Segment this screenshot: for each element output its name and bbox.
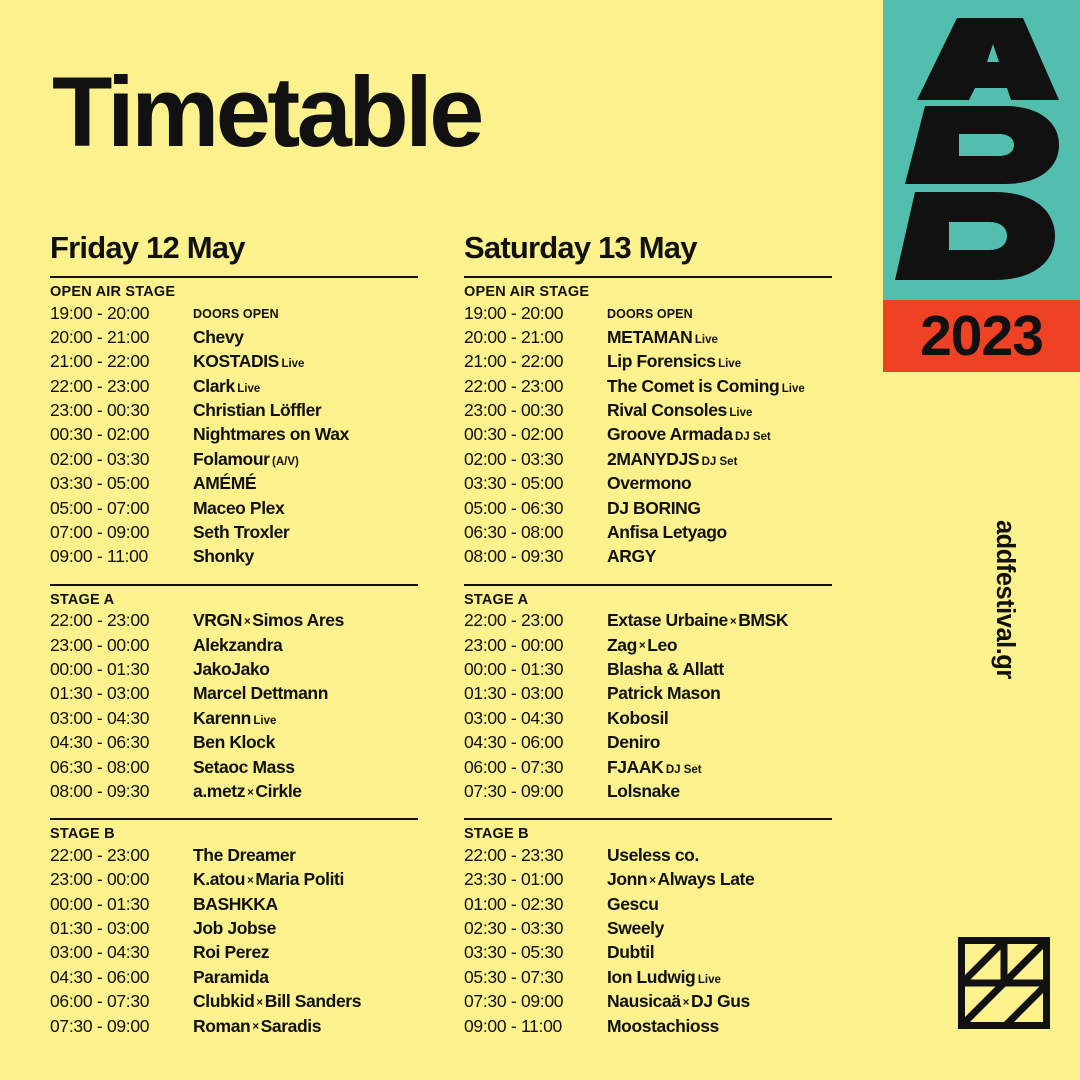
slot-time: 06:00 - 07:30 [50, 991, 193, 1012]
slot-artist: Zag×Leo [607, 635, 677, 656]
artist-name: a.metz [193, 781, 245, 801]
slot-artist: BASHKKA [193, 894, 278, 915]
slot-time: 02:30 - 03:30 [464, 918, 607, 939]
slot-time: 22:00 - 23:00 [50, 610, 193, 631]
slot-time: 03:30 - 05:00 [464, 473, 607, 494]
slot-artist: Setaoc Mass [193, 757, 295, 778]
slot-time: 07:00 - 09:00 [50, 522, 193, 543]
slot-artist: Roman×Saradis [193, 1016, 321, 1037]
artist-name: JakoJako [193, 659, 270, 679]
stage-divider [464, 276, 832, 278]
slot-time: 03:30 - 05:00 [50, 473, 193, 494]
schedule-row: 07:00 - 09:00Seth Troxler [50, 522, 470, 546]
artist-name: Nightmares on Wax [193, 424, 349, 444]
slot-time: 22:00 - 23:00 [464, 376, 607, 397]
slot-time: 06:00 - 07:30 [464, 757, 607, 778]
logo-year-text: 2023 [920, 308, 1043, 365]
slot-time: 09:00 - 11:00 [50, 546, 193, 567]
schedule-row: 22:00 - 23:00The Comet is ComingLive [464, 376, 884, 400]
schedule-row: 00:30 - 02:00Nightmares on Wax [50, 424, 470, 448]
artist-name: Deniro [607, 732, 660, 752]
artist-name: Anfisa Letyago [607, 522, 727, 542]
slot-artist: Ion LudwigLive [607, 967, 721, 988]
add-logotype-icon [883, 0, 1080, 300]
performance-type-label: Live [237, 383, 260, 395]
slot-time: 01:30 - 03:00 [50, 683, 193, 704]
stage-block: STAGE A22:00 - 23:00VRGN×Simos Ares23:00… [50, 584, 470, 806]
schedule-row: 09:00 - 11:00Moostachioss [464, 1016, 884, 1040]
schedule-row: 04:30 - 06:00Paramida [50, 967, 470, 991]
slot-artist: Christian Löffler [193, 400, 321, 421]
artist-name: METAMAN [607, 327, 692, 347]
stage-name: STAGE A [464, 593, 884, 608]
artist-name: DOORS OPEN [193, 307, 279, 321]
artist-name: 2MANYDJS [607, 449, 699, 469]
doors-open-label: DOORS OPEN [607, 307, 693, 321]
artist-name: AMÉMÉ [193, 473, 256, 493]
artist-name: Blasha & Allatt [607, 659, 724, 679]
artist-name: Paramida [193, 967, 269, 987]
artist-name: Shonky [193, 546, 254, 566]
schedule-row: 23:30 - 01:00Jonn×Always Late [464, 869, 884, 893]
schedule-row: 05:00 - 06:30DJ BORING [464, 498, 884, 522]
stage-divider [50, 276, 418, 278]
artist-name: Moostachioss [607, 1016, 719, 1036]
slot-time: 06:30 - 08:00 [50, 757, 193, 778]
slot-time: 23:30 - 01:00 [464, 869, 607, 890]
slot-artist: Alekzandra [193, 635, 282, 656]
slot-time: 20:00 - 21:00 [50, 327, 193, 348]
artist-name-secondary: Saradis [261, 1016, 321, 1036]
slot-artist: Sweely [607, 918, 664, 939]
schedule-row: 07:30 - 09:00Lolsnake [464, 781, 884, 805]
stage-divider [464, 584, 832, 586]
stage-block: STAGE B22:00 - 23:00The Dreamer23:00 - 0… [50, 818, 470, 1040]
schedule-row: 07:30 - 09:00Roman×Saradis [50, 1016, 470, 1040]
slot-artist: Folamour(A/V) [193, 449, 299, 470]
artist-name: Gescu [607, 894, 659, 914]
artist-name: Lip Forensics [607, 351, 716, 371]
slot-artist: Blasha & Allatt [607, 659, 724, 680]
slot-time: 23:00 - 00:00 [50, 635, 193, 656]
performance-type-label: Live [718, 358, 741, 370]
slot-time: 00:00 - 01:30 [464, 659, 607, 680]
slot-time: 04:30 - 06:00 [464, 732, 607, 753]
performance-type-label: (A/V) [272, 456, 299, 468]
schedule-row: 22:00 - 23:00ClarkLive [50, 376, 470, 400]
artist-name: BASHKKA [193, 894, 278, 914]
slot-artist: Deniro [607, 732, 660, 753]
schedule-row: 03:00 - 04:30Roi Perez [50, 942, 470, 966]
schedule-row: 01:30 - 03:00Patrick Mason [464, 683, 884, 707]
slot-artist: Shonky [193, 546, 254, 567]
artist-separator: × [647, 875, 657, 887]
festival-logo-block: 2023 [883, 0, 1080, 372]
schedule-row: 02:30 - 03:30Sweely [464, 918, 884, 942]
slot-time: 19:00 - 20:00 [464, 303, 607, 324]
performance-type-label: DJ Set [735, 431, 771, 443]
schedule-row: 19:00 - 20:00DOORS OPEN [50, 303, 470, 327]
stage-block: STAGE A22:00 - 23:00Extase Urbaine×BMSK2… [464, 584, 884, 806]
performance-type-label: Live [698, 974, 721, 986]
schedule-row: 02:00 - 03:30Folamour(A/V) [50, 449, 470, 473]
schedule-row: 04:30 - 06:30Ben Klock [50, 732, 470, 756]
slot-time: 19:00 - 20:00 [50, 303, 193, 324]
slot-artist: AMÉMÉ [193, 473, 256, 494]
slot-artist: Roi Perez [193, 942, 269, 963]
slot-time: 20:00 - 21:00 [464, 327, 607, 348]
artist-name: Extase Urbaine [607, 610, 728, 630]
slot-artist: JakoJako [193, 659, 270, 680]
schedule-row: 19:00 - 20:00DOORS OPEN [464, 303, 884, 327]
artist-name: Zag [607, 635, 637, 655]
slot-artist: Clubkid×Bill Sanders [193, 991, 361, 1012]
slot-artist: ClarkLive [193, 376, 260, 397]
artist-name: Roman [193, 1016, 250, 1036]
slot-artist: ARGY [607, 546, 656, 567]
artist-name: Nausicaä [607, 991, 681, 1011]
slot-time: 08:00 - 09:30 [464, 546, 607, 567]
artist-name-secondary: Leo [647, 635, 677, 655]
artist-name: K.atou [193, 869, 245, 889]
slot-artist: Moostachioss [607, 1016, 719, 1037]
schedule-row: 09:00 - 11:00Shonky [50, 546, 470, 570]
slot-time: 00:00 - 01:30 [50, 894, 193, 915]
artist-name: Sweely [607, 918, 664, 938]
slot-time: 00:00 - 01:30 [50, 659, 193, 680]
schedule-row: 23:00 - 00:00Alekzandra [50, 635, 470, 659]
slot-artist: Nightmares on Wax [193, 424, 349, 445]
stage-block: STAGE B22:00 - 23:30Useless co.23:30 - 0… [464, 818, 884, 1040]
artist-name: Ion Ludwig [607, 967, 695, 987]
schedule-row: 03:00 - 04:30Kobosil [464, 708, 884, 732]
artist-name-secondary: BMSK [738, 610, 788, 630]
artist-name: The Dreamer [193, 845, 296, 865]
slot-artist: Jonn×Always Late [607, 869, 754, 890]
slot-artist: Paramida [193, 967, 269, 988]
artist-name: Chevy [193, 327, 244, 347]
day-column-saturday: Saturday 13 MayOPEN AIR STAGE19:00 - 20:… [464, 232, 884, 1040]
schedule-row: 06:30 - 08:00Setaoc Mass [50, 757, 470, 781]
slot-time: 03:30 - 05:30 [464, 942, 607, 963]
artist-name: FJAAK [607, 757, 663, 777]
schedule-row: 01:30 - 03:00Marcel Dettmann [50, 683, 470, 707]
slot-artist: Gescu [607, 894, 659, 915]
schedule-row: 00:00 - 01:30BASHKKA [50, 894, 470, 918]
artist-name: KOSTADIS [193, 351, 279, 371]
slot-time: 05:00 - 06:30 [464, 498, 607, 519]
schedule-row: 05:30 - 07:30Ion LudwigLive [464, 967, 884, 991]
slot-time: 06:30 - 08:00 [464, 522, 607, 543]
slot-time: 03:00 - 04:30 [50, 942, 193, 963]
slot-artist: KarennLive [193, 708, 276, 729]
schedule-row: 20:00 - 21:00Chevy [50, 327, 470, 351]
artist-name: Jonn [607, 869, 647, 889]
slot-artist: DJ BORING [607, 498, 701, 519]
brand-monogram-icon [958, 937, 1050, 1029]
schedule-row: 22:00 - 23:00VRGN×Simos Ares [50, 610, 470, 634]
slot-artist: Useless co. [607, 845, 699, 866]
artist-name: Maceo Plex [193, 498, 284, 518]
slot-artist: Lolsnake [607, 781, 680, 802]
slot-time: 22:00 - 23:30 [464, 845, 607, 866]
schedule-row: 08:00 - 09:30a.metz×Cirkle [50, 781, 470, 805]
artist-name: Ben Klock [193, 732, 275, 752]
slot-artist: Patrick Mason [607, 683, 720, 704]
slot-artist: Extase Urbaine×BMSK [607, 610, 788, 631]
slot-time: 03:00 - 04:30 [50, 708, 193, 729]
slot-artist: Job Jobse [193, 918, 276, 939]
slot-time: 22:00 - 23:00 [464, 610, 607, 631]
schedule-row: 06:00 - 07:30Clubkid×Bill Sanders [50, 991, 470, 1015]
stage-divider [50, 818, 418, 820]
stage-block: OPEN AIR STAGE19:00 - 20:00DOORS OPEN20:… [464, 276, 884, 571]
artist-name: Roi Perez [193, 942, 269, 962]
performance-type-label: Live [782, 383, 805, 395]
artist-name-secondary: Always Late [658, 869, 755, 889]
artist-name: Alekzandra [193, 635, 282, 655]
slot-time: 00:30 - 02:00 [464, 424, 607, 445]
artist-name: Overmono [607, 473, 691, 493]
slot-time: 05:30 - 07:30 [464, 967, 607, 988]
schedule-row: 23:00 - 00:30Rival ConsolesLive [464, 400, 884, 424]
slot-artist: Maceo Plex [193, 498, 284, 519]
slot-artist: Overmono [607, 473, 691, 494]
slot-time: 04:30 - 06:30 [50, 732, 193, 753]
artist-name: Christian Löffler [193, 400, 321, 420]
schedule-row: 22:00 - 23:00The Dreamer [50, 845, 470, 869]
schedule-row: 00:00 - 01:30Blasha & Allatt [464, 659, 884, 683]
day-column-friday: Friday 12 MayOPEN AIR STAGE19:00 - 20:00… [50, 232, 470, 1040]
slot-artist: Rival ConsolesLive [607, 400, 752, 421]
artist-name: Lolsnake [607, 781, 680, 801]
slot-time: 23:00 - 00:00 [50, 869, 193, 890]
slot-time: 04:30 - 06:00 [50, 967, 193, 988]
slot-artist: Dubtil [607, 942, 654, 963]
slot-artist: Chevy [193, 327, 244, 348]
artist-name: The Comet is Coming [607, 376, 779, 396]
day-title: Friday 12 May [50, 232, 470, 263]
stage-block: OPEN AIR STAGE19:00 - 20:00DOORS OPEN20:… [50, 276, 470, 571]
artist-separator: × [250, 1021, 260, 1033]
artist-name: Dubtil [607, 942, 654, 962]
artist-separator: × [245, 787, 255, 799]
schedule-row: 08:00 - 09:30ARGY [464, 546, 884, 570]
artist-name: Kobosil [607, 708, 668, 728]
slot-time: 07:30 - 09:00 [464, 991, 607, 1012]
stage-name: OPEN AIR STAGE [50, 285, 470, 300]
schedule-row: 23:00 - 00:30Christian Löffler [50, 400, 470, 424]
performance-type-label: Live [695, 334, 718, 346]
schedule-row: 04:30 - 06:00Deniro [464, 732, 884, 756]
performance-type-label: Live [729, 407, 752, 419]
artist-name: Patrick Mason [607, 683, 720, 703]
schedule-row: 21:00 - 22:00KOSTADISLive [50, 351, 470, 375]
artist-name-secondary: Cirkle [255, 781, 301, 801]
artist-separator: × [245, 875, 255, 887]
slot-time: 09:00 - 11:00 [464, 1016, 607, 1037]
schedule-row: 07:30 - 09:00Nausicaä×DJ Gus [464, 991, 884, 1015]
artist-separator: × [681, 997, 691, 1009]
artist-name: Useless co. [607, 845, 699, 865]
performance-type-label: DJ Set [702, 456, 738, 468]
logo-year: 2023 [883, 300, 1080, 372]
artist-separator: × [728, 616, 738, 628]
artist-name-secondary: Bill Sanders [265, 991, 361, 1011]
schedule-row: 06:00 - 07:30FJAAKDJ Set [464, 757, 884, 781]
performance-type-label: Live [281, 358, 304, 370]
slot-artist: FJAAKDJ Set [607, 757, 702, 778]
slot-time: 02:00 - 03:30 [50, 449, 193, 470]
slot-artist: 2MANYDJSDJ Set [607, 449, 737, 470]
schedule-row: 22:00 - 23:30Useless co. [464, 845, 884, 869]
slot-time: 07:30 - 09:00 [464, 781, 607, 802]
artist-name: Groove Armada [607, 424, 732, 444]
slot-artist: Anfisa Letyago [607, 522, 727, 543]
stage-name: STAGE B [50, 827, 470, 842]
slot-artist: Lip ForensicsLive [607, 351, 741, 372]
slot-time: 23:00 - 00:00 [464, 635, 607, 656]
schedule-row: 01:30 - 03:00Job Jobse [50, 918, 470, 942]
slot-artist: The Comet is ComingLive [607, 376, 805, 397]
artist-name-secondary: Maria Politi [255, 869, 344, 889]
artist-name-secondary: Simos Ares [252, 610, 344, 630]
artist-name: Folamour [193, 449, 270, 469]
slot-time: 07:30 - 09:00 [50, 1016, 193, 1037]
performance-type-label: DJ Set [666, 764, 702, 776]
slot-artist: K.atou×Maria Politi [193, 869, 344, 890]
artist-name: Marcel Dettmann [193, 683, 328, 703]
slot-time: 21:00 - 22:00 [50, 351, 193, 372]
slot-artist: Ben Klock [193, 732, 275, 753]
slot-time: 05:00 - 07:00 [50, 498, 193, 519]
artist-name-secondary: DJ Gus [691, 991, 750, 1011]
slot-time: 08:00 - 09:30 [50, 781, 193, 802]
stage-name: STAGE A [50, 593, 470, 608]
day-title: Saturday 13 May [464, 232, 884, 263]
slot-time: 23:00 - 00:30 [464, 400, 607, 421]
schedule-row: 03:30 - 05:00Overmono [464, 473, 884, 497]
website-url[interactable]: addfestival.gr [990, 520, 1019, 679]
stage-divider [50, 584, 418, 586]
artist-name: Setaoc Mass [193, 757, 295, 777]
slot-time: 03:00 - 04:30 [464, 708, 607, 729]
artist-name: VRGN [193, 610, 242, 630]
schedule-row: 05:00 - 07:00Maceo Plex [50, 498, 470, 522]
artist-name: ARGY [607, 546, 656, 566]
slot-artist: Seth Troxler [193, 522, 289, 543]
slot-time: 21:00 - 22:00 [464, 351, 607, 372]
artist-name: Karenn [193, 708, 251, 728]
slot-artist: Kobosil [607, 708, 668, 729]
schedule-row: 02:00 - 03:302MANYDJSDJ Set [464, 449, 884, 473]
stage-name: OPEN AIR STAGE [464, 285, 884, 300]
slot-artist: METAMANLive [607, 327, 718, 348]
doors-open-label: DOORS OPEN [193, 307, 279, 321]
artist-name: DJ BORING [607, 498, 701, 518]
schedule-row: 03:00 - 04:30KarennLive [50, 708, 470, 732]
page-title: Timetable [52, 62, 481, 161]
artist-name: Clubkid [193, 991, 254, 1011]
slot-time: 23:00 - 00:30 [50, 400, 193, 421]
stage-name: STAGE B [464, 827, 884, 842]
artist-separator: × [637, 640, 647, 652]
artist-name: DOORS OPEN [607, 307, 693, 321]
schedule-row: 00:00 - 01:30JakoJako [50, 659, 470, 683]
artist-name: Job Jobse [193, 918, 276, 938]
slot-artist: Marcel Dettmann [193, 683, 328, 704]
artist-separator: × [254, 997, 264, 1009]
schedule-row: 06:30 - 08:00Anfisa Letyago [464, 522, 884, 546]
performance-type-label: Live [253, 715, 276, 727]
slot-time: 00:30 - 02:00 [50, 424, 193, 445]
slot-time: 22:00 - 23:00 [50, 845, 193, 866]
slot-artist: KOSTADISLive [193, 351, 304, 372]
slot-artist: Groove ArmadaDJ Set [607, 424, 771, 445]
schedule-row: 21:00 - 22:00Lip ForensicsLive [464, 351, 884, 375]
slot-artist: a.metz×Cirkle [193, 781, 302, 802]
artist-name: Seth Troxler [193, 522, 289, 542]
slot-time: 02:00 - 03:30 [464, 449, 607, 470]
artist-name: Rival Consoles [607, 400, 727, 420]
slot-time: 01:30 - 03:00 [464, 683, 607, 704]
artist-separator: × [242, 616, 252, 628]
slot-artist: The Dreamer [193, 845, 296, 866]
slot-time: 01:30 - 03:00 [50, 918, 193, 939]
slot-time: 01:00 - 02:30 [464, 894, 607, 915]
artist-name: Clark [193, 376, 235, 396]
schedule-row: 23:00 - 00:00K.atou×Maria Politi [50, 869, 470, 893]
schedule-row: 03:30 - 05:30Dubtil [464, 942, 884, 966]
schedule-row: 01:00 - 02:30Gescu [464, 894, 884, 918]
schedule-row: 22:00 - 23:00Extase Urbaine×BMSK [464, 610, 884, 634]
schedule-row: 20:00 - 21:00METAMANLive [464, 327, 884, 351]
schedule-row: 23:00 - 00:00Zag×Leo [464, 635, 884, 659]
stage-divider [464, 818, 832, 820]
slot-time: 22:00 - 23:00 [50, 376, 193, 397]
slot-artist: VRGN×Simos Ares [193, 610, 344, 631]
slot-artist: Nausicaä×DJ Gus [607, 991, 750, 1012]
schedule-row: 03:30 - 05:00AMÉMÉ [50, 473, 470, 497]
schedule-row: 00:30 - 02:00Groove ArmadaDJ Set [464, 424, 884, 448]
